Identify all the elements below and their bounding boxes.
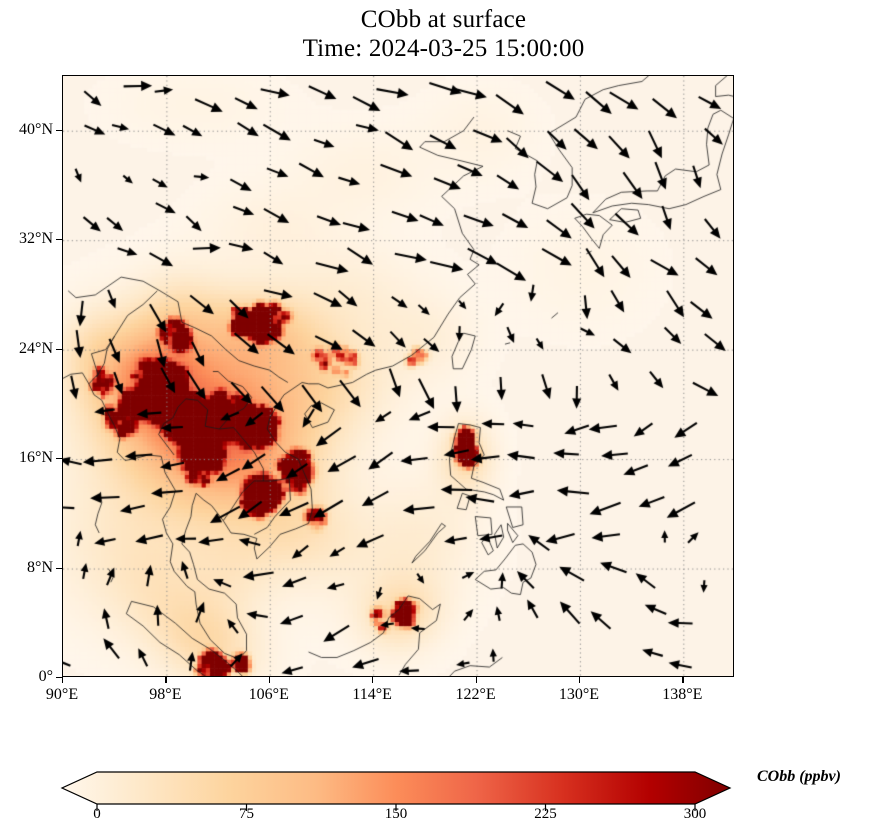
colorbar-tick-label: 0 xyxy=(93,806,101,823)
y-tick-label: 24°N xyxy=(19,340,53,358)
x-tick-label: 130°E xyxy=(559,686,599,704)
y-tick-label: 32°N xyxy=(19,230,53,248)
title-line-time: Time: 2024-03-25 15:00:00 xyxy=(0,35,887,64)
x-tick-mark xyxy=(579,677,580,683)
title-line-variable: CObb at surface xyxy=(0,6,887,35)
y-axis-labels: 0°8°N16°N24°N32°N40°N xyxy=(0,0,53,836)
cobb-concentration-heatmap xyxy=(63,76,734,677)
x-tick-mark xyxy=(372,677,373,683)
x-tick-label: 98°E xyxy=(149,686,181,704)
y-tick-mark xyxy=(56,458,62,459)
x-tick-mark xyxy=(165,677,166,683)
y-tick-label: 40°N xyxy=(19,121,53,139)
colorbar-tick-label: 150 xyxy=(385,806,408,823)
x-tick-mark xyxy=(682,677,683,683)
y-tick-mark xyxy=(56,239,62,240)
x-tick-label: 138°E xyxy=(662,686,702,704)
colorbar-tick-label: 300 xyxy=(684,806,707,823)
x-tick-label: 106°E xyxy=(249,686,289,704)
colorbar-title: CObb (ppbv) xyxy=(757,768,841,786)
x-tick-mark xyxy=(269,677,270,683)
colorbar-tick-label: 75 xyxy=(239,806,254,823)
x-tick-label: 114°E xyxy=(352,686,392,704)
y-tick-label: 16°N xyxy=(19,449,53,467)
x-tick-label: 90°E xyxy=(46,686,78,704)
x-tick-mark xyxy=(476,677,477,683)
figure-title: CObb at surface Time: 2024-03-25 15:00:0… xyxy=(0,6,887,64)
x-tick-label: 122°E xyxy=(455,686,495,704)
y-tick-mark xyxy=(56,568,62,569)
x-tick-mark xyxy=(62,677,63,683)
map-plot-area xyxy=(62,75,734,677)
y-tick-mark xyxy=(56,130,62,131)
colorbar-tick-label: 225 xyxy=(534,806,557,823)
y-tick-label: 0° xyxy=(39,668,53,686)
y-tick-mark xyxy=(56,349,62,350)
y-tick-label: 8°N xyxy=(27,559,53,577)
